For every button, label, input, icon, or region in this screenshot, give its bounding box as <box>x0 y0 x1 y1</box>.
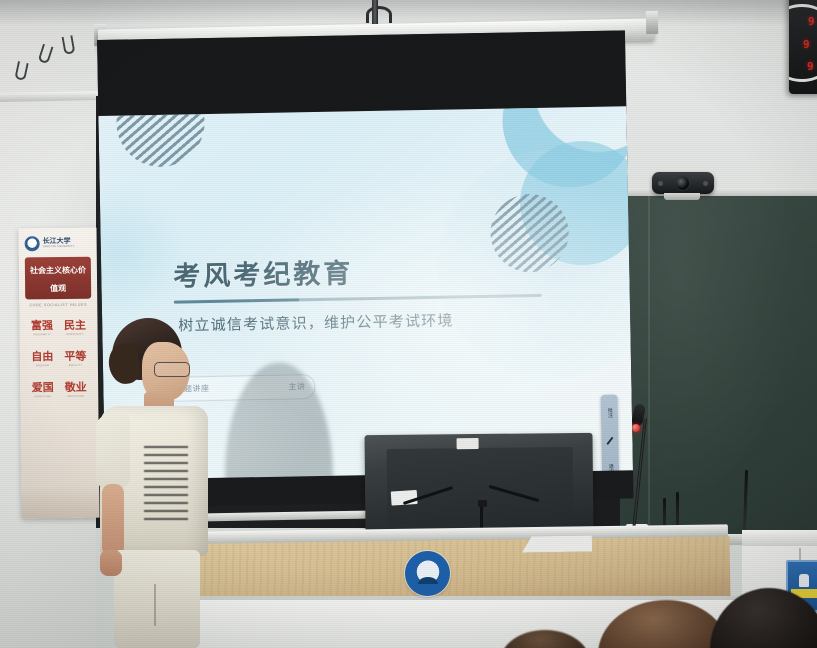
presenter-hair-back <box>106 342 141 386</box>
poster-value-zh: 平等 <box>64 348 86 364</box>
podium-monitor-rear <box>364 433 593 533</box>
annotation-toolbar[interactable]: 批注 退出 <box>601 395 620 482</box>
monitor-spec-label <box>457 438 479 449</box>
poster-value-en: PROSPERITY <box>31 333 53 336</box>
classroom-photo-scene: 9 9 9 考风考纪教育 树立诚信考试意识，维护公平考试环境 专题讲座 主讲 <box>0 0 817 648</box>
projector-hook-icon <box>366 6 392 23</box>
monitor-cable-tie <box>478 500 487 507</box>
presenter-shorts <box>114 550 200 648</box>
slide-title: 考风考纪教育 <box>173 251 354 293</box>
poster-banner-title: 社会主义核心价值观 <box>30 266 86 293</box>
poster-university-name-en: YANGTZE UNIVERSITY <box>43 246 75 249</box>
poster-value-en: FREEDOM <box>31 364 53 367</box>
poster-values-grid: 富强 PROSPERITY 民主 DEMOCRACY 自由 FREEDOM 平等… <box>25 317 92 399</box>
clock-digit-mid: 9 <box>803 38 810 51</box>
poster-value-zh: 爱国 <box>32 379 54 395</box>
poster-value-zh: 自由 <box>31 348 53 364</box>
poster-value-zh: 敬业 <box>65 379 87 395</box>
presenter-hand <box>100 550 122 576</box>
poster-value-en: EQUALITY <box>64 364 86 367</box>
pen-icon[interactable] <box>604 435 615 446</box>
ceiling-shadow <box>0 0 817 26</box>
webcam-mount <box>664 193 700 200</box>
clock-digit-low: 9 <box>807 60 814 73</box>
poster-value-en: PATRIOTISM <box>32 395 54 398</box>
poster-value-row: 自由 FREEDOM 平等 EQUALITY <box>26 348 92 368</box>
student-presenter <box>96 318 218 648</box>
webcam-lens-icon <box>675 176 690 191</box>
screen-housing-cap-right <box>646 11 658 34</box>
poster-value-row: 富强 PROSPERITY 民主 DEMOCRACY <box>25 317 91 337</box>
core-values-poster: 长江大学 YANGTZE UNIVERSITY 社会主义核心价值观 CORE S… <box>18 228 99 519</box>
slide-subtitle: 树立诚信考试意识，维护公平考试环境 <box>178 310 454 336</box>
right-wall-soffit <box>742 530 817 546</box>
webcam-sensor-right <box>703 181 708 186</box>
lectern-notch <box>522 536 592 553</box>
sign-pictogram-icon <box>799 574 809 587</box>
presenter-arm <box>102 484 124 556</box>
poster-value-en: DEMOCRACY <box>64 333 86 336</box>
eyeglasses-icon <box>154 362 190 377</box>
poster-banner-subtitle: CORE SOCIALIST VALUES <box>25 303 91 308</box>
chalkboard-seam <box>648 196 650 540</box>
emblem-ring <box>404 550 451 597</box>
poster-footer-art <box>21 486 99 519</box>
clock-digit: 9 <box>808 15 815 28</box>
wall-digital-clock: 9 9 9 <box>789 0 817 94</box>
toolbar-item-annotate[interactable]: 批注 <box>607 407 612 417</box>
webcam-sensor-left <box>658 181 663 186</box>
tshirt-print-text <box>144 446 188 520</box>
poster-banner: 社会主义核心价值观 <box>25 257 91 300</box>
screen-letterbox-top <box>97 30 626 116</box>
poster-value-row: 爱国 PATRIOTISM 敬业 DEDICATION <box>26 379 92 399</box>
university-seal-icon <box>25 236 40 251</box>
lectern-university-emblem <box>405 551 450 596</box>
shorts-seam <box>154 584 156 626</box>
poster-value-zh: 富强 <box>31 317 53 333</box>
microphone-led-icon <box>632 424 640 432</box>
poster-value-zh: 民主 <box>64 317 86 333</box>
poster-university-logo: 长江大学 YANGTZE UNIVERSITY <box>25 236 91 252</box>
presenter-sleeve <box>96 414 130 488</box>
webcam-icon <box>652 172 714 194</box>
poster-value-en: DEDICATION <box>65 395 87 398</box>
deco-striped-circle-top-left <box>116 106 206 167</box>
